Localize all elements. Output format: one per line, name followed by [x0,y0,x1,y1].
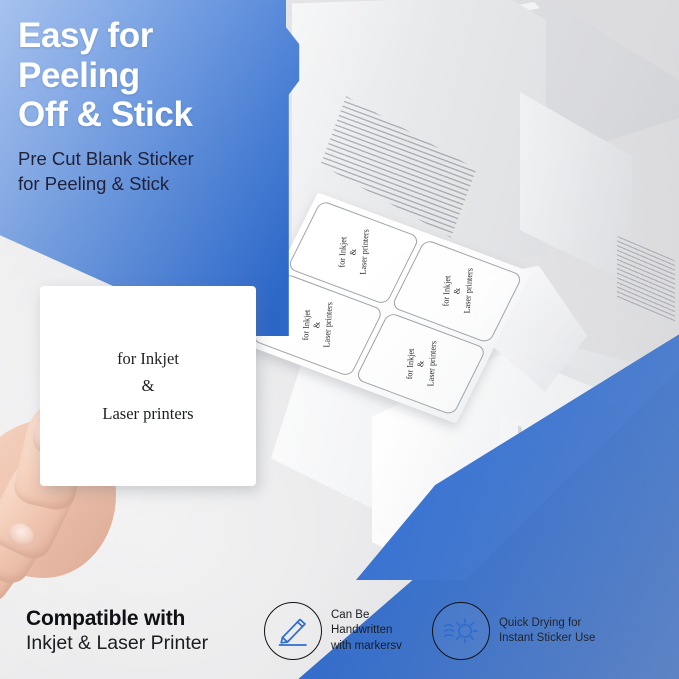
compatibility-block: Compatible with Inkjet & Laser Printer [26,606,258,657]
feature-icon-circle [432,602,490,660]
sticker-label-text: for Inkjet & Laser printers [439,268,474,314]
held-card-text: for Inkjet & Laser printers [102,345,193,427]
subheadline-block: Pre Cut Blank Sticker for Peeling & Stic… [18,146,348,196]
headline-line-2: Peeling [18,56,318,96]
feature-handwritten-label: Can Be Handwritten with markersv [331,608,402,654]
feature-quick-drying-label: Quick Drying for Instant Sticker Use [499,616,596,646]
headline-line-3: Off & Stick [18,95,318,135]
sun-quick-dry-icon [442,614,480,648]
feature-handwritten: Can Be Handwritten with markersv [264,602,402,660]
compatibility-title: Compatible with [26,606,258,632]
feature-bar: Compatible with Inkjet & Laser Printer C… [0,583,679,679]
subheadline-line-1: Pre Cut Blank Sticker [18,146,348,171]
feature-icon-circle [264,602,322,660]
compatibility-subtitle: Inkjet & Laser Printer [26,631,258,656]
subheadline-line-2: for Peeling & Stick [18,171,348,196]
feature-quick-drying: Quick Drying for Instant Sticker Use [432,602,596,660]
pen-writing-icon [276,614,310,648]
product-marketing-image: for Inkjet & Laser printers for Inkjet &… [0,0,679,679]
headline-line-1: Easy for [18,16,318,56]
sticker-label-text: for Inkjet & Laser printers [336,229,371,275]
headline-block: Easy for Peeling Off & Stick [18,16,318,135]
held-blank-label-card: for Inkjet & Laser printers [40,286,256,486]
sticker-label-text: for Inkjet & Laser printers [403,341,438,387]
